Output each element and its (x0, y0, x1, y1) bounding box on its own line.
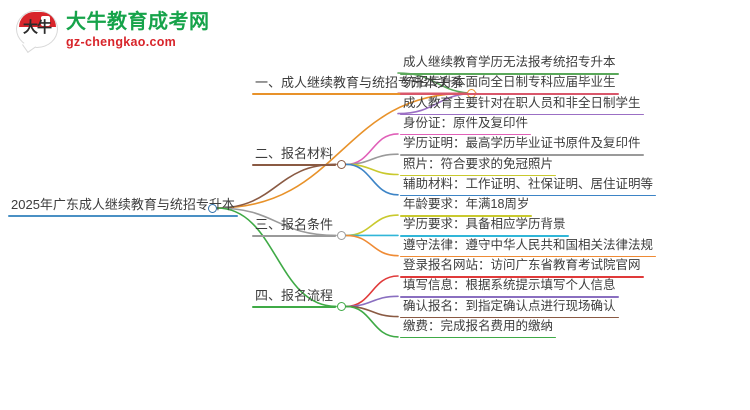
leaf-node-2-1[interactable]: 身份证：原件及复印件 (400, 115, 531, 136)
branch-node-dot-4[interactable] (337, 302, 346, 311)
leaf-node-4-4-label: 缴费：完成报名费用的缴纳 (400, 318, 556, 337)
leaf-node-4-1-label: 登录报名网站：访问广东省教育考试院官网 (400, 257, 644, 276)
leaf-node-4-4[interactable]: 缴费：完成报名费用的缴纳 (400, 318, 556, 339)
leaf-node-3-2[interactable]: 学历要求：具备相应学历背景 (400, 216, 569, 237)
leaf-node-4-4-underline (400, 337, 556, 339)
leaf-node-1-3[interactable]: 成人教育主要针对在职人员和非全日制学生 (400, 95, 644, 116)
leaf-node-4-1[interactable]: 登录报名网站：访问广东省教育考试院官网 (400, 257, 644, 278)
leaf-node-2-4-label: 辅助材料：工作证明、社保证明、居住证明等 (400, 176, 656, 195)
leaf-node-2-4[interactable]: 辅助材料：工作证明、社保证明、居住证明等 (400, 176, 656, 197)
leaf-node-2-3[interactable]: 照片：符合要求的免冠照片 (400, 156, 556, 177)
leaf-node-1-1[interactable]: 成人继续教育学历无法报考统招专升本 (400, 54, 619, 75)
branch-node-3-label: 三、报名条件 (252, 216, 336, 235)
root-node-dot[interactable] (208, 204, 217, 213)
mindmap-canvas: 大牛 大牛教育成考网 gz-chengkao.com 2025年广东成人继续教育… (0, 0, 750, 410)
leaf-node-1-2[interactable]: 统招专升本面向全日制专科应届毕业生 (400, 74, 619, 95)
root-node-underline (8, 215, 238, 217)
root-node-label: 2025年广东成人继续教育与统招专升本 (8, 196, 238, 215)
leaf-node-2-2[interactable]: 学历证明：最高学历毕业证书原件及复印件 (400, 135, 644, 156)
branch-node-2-label: 二、报名材料 (252, 145, 336, 164)
leaf-node-1-1-label: 成人继续教育学历无法报考统招专升本 (400, 54, 619, 73)
leaf-node-1-3-label: 成人教育主要针对在职人员和非全日制学生 (400, 95, 644, 114)
leaf-node-3-2-label: 学历要求：具备相应学历背景 (400, 216, 569, 235)
branch-node-4[interactable]: 四、报名流程 (252, 287, 336, 308)
leaf-node-3-1[interactable]: 年龄要求：年满18周岁 (400, 196, 532, 217)
connector-curve (346, 215, 398, 235)
leaf-node-2-1-label: 身份证：原件及复印件 (400, 115, 531, 134)
leaf-node-2-3-label: 照片：符合要求的免冠照片 (400, 156, 556, 175)
leaf-node-3-3[interactable]: 遵守法律：遵守中华人民共和国相关法律法规 (400, 237, 656, 258)
branch-node-2-underline (252, 164, 336, 166)
leaf-node-3-3-label: 遵守法律：遵守中华人民共和国相关法律法规 (400, 237, 656, 256)
branch-node-4-label: 四、报名流程 (252, 287, 336, 306)
leaf-node-2-2-label: 学历证明：最高学历毕业证书原件及复印件 (400, 135, 644, 154)
leaf-node-4-2[interactable]: 填写信息：根据系统提示填写个人信息 (400, 277, 619, 298)
leaf-node-4-3-label: 确认报名：到指定确认点进行现场确认 (400, 298, 619, 317)
leaf-node-3-1-label: 年龄要求：年满18周岁 (400, 196, 532, 215)
branch-node-2[interactable]: 二、报名材料 (252, 145, 336, 166)
connector-curve (346, 235, 398, 255)
branch-node-3[interactable]: 三、报名条件 (252, 216, 336, 237)
branch-node-dot-3[interactable] (337, 231, 346, 240)
leaf-node-1-2-label: 统招专升本面向全日制专科应届毕业生 (400, 74, 619, 93)
branch-node-4-underline (252, 306, 336, 308)
leaf-node-4-2-label: 填写信息：根据系统提示填写个人信息 (400, 277, 619, 296)
root-node[interactable]: 2025年广东成人继续教育与统招专升本 (8, 196, 238, 217)
branch-node-dot-2[interactable] (337, 160, 346, 169)
leaf-node-4-3[interactable]: 确认报名：到指定确认点进行现场确认 (400, 298, 619, 319)
branch-node-3-underline (252, 235, 336, 237)
